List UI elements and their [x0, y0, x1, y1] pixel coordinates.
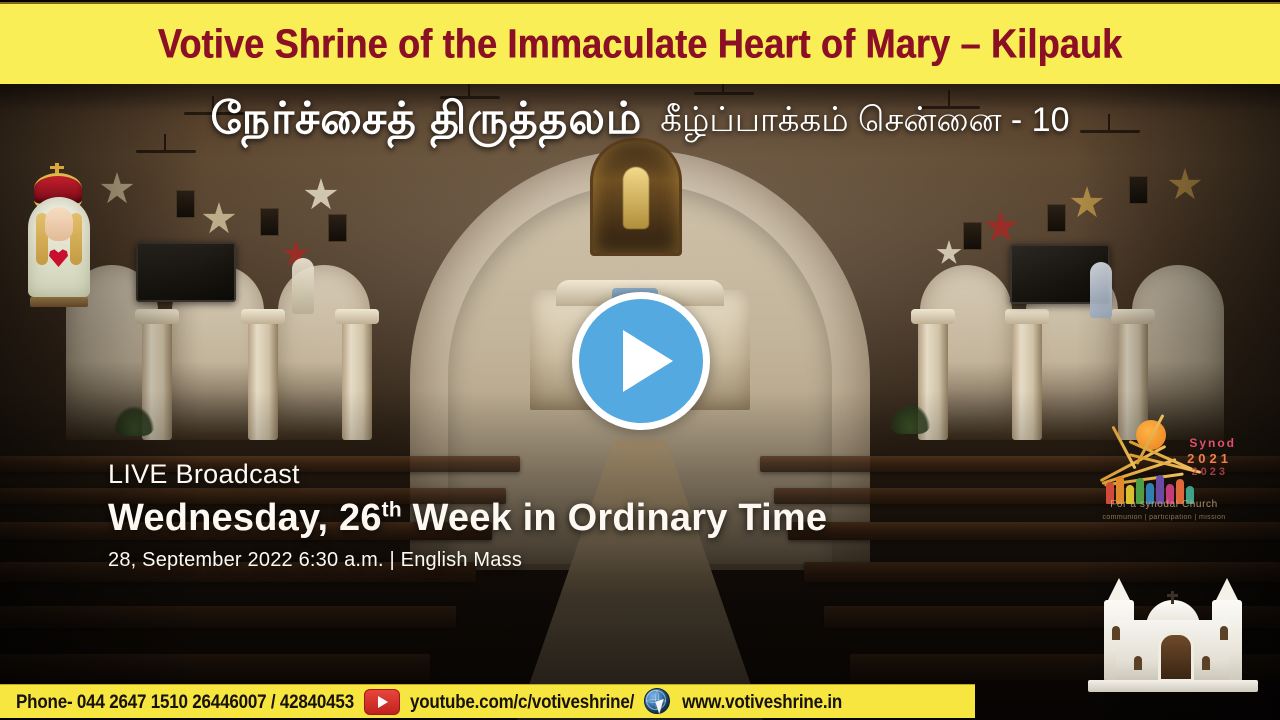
liturgical-day-title: Wednesday, 26th Week in Ordinary Time [108, 494, 827, 543]
broadcast-info-overlay: LIVE Broadcast Wednesday, 26th Week in O… [108, 458, 827, 572]
play-triangle [623, 330, 673, 392]
synod-word: Synod [1189, 436, 1236, 450]
video-player[interactable]: Votive Shrine of the Immaculate Heart of… [0, 0, 1280, 720]
title-part-1: Wednesday, 26 [108, 497, 382, 539]
synod-year-2023: 2023 [1192, 466, 1228, 478]
youtube-channel-link[interactable]: youtube.com/c/votiveshrine/ [410, 690, 634, 713]
synod-year-2021: 2021 [1187, 451, 1232, 466]
title-ordinal-suffix: th [382, 498, 402, 521]
title-part-2: Week in Ordinary Time [402, 497, 827, 539]
globe-icon[interactable] [644, 688, 672, 716]
synod-tagline: For a synodal Church [1098, 499, 1230, 510]
shrine-title-banner: Votive Shrine of the Immaculate Heart of… [0, 2, 1280, 84]
website-link[interactable]: www.votiveshrine.in [682, 690, 842, 713]
immaculate-heart-statue-icon [22, 163, 96, 303]
phone-number-text: Phone- 044 2647 1510 26446007 / 42840453 [16, 690, 354, 713]
church-facade-icon [1088, 580, 1258, 692]
synod-tagline-secondary: communion | participation | mission [1098, 514, 1230, 521]
synod-2021-logo: Synod 2021 2023 For a synodal Church com… [1092, 418, 1232, 518]
live-broadcast-label: LIVE Broadcast [108, 458, 827, 492]
broadcast-datetime-language: 28, September 2022 6:30 a.m. | English M… [108, 549, 827, 572]
youtube-play-triangle [378, 696, 388, 708]
youtube-icon[interactable] [364, 689, 400, 715]
play-icon[interactable] [572, 292, 710, 430]
shrine-title-text: Votive Shrine of the Immaculate Heart of… [158, 20, 1123, 67]
contact-footer-bar: Phone- 044 2647 1510 26446007 / 42840453… [0, 684, 975, 718]
